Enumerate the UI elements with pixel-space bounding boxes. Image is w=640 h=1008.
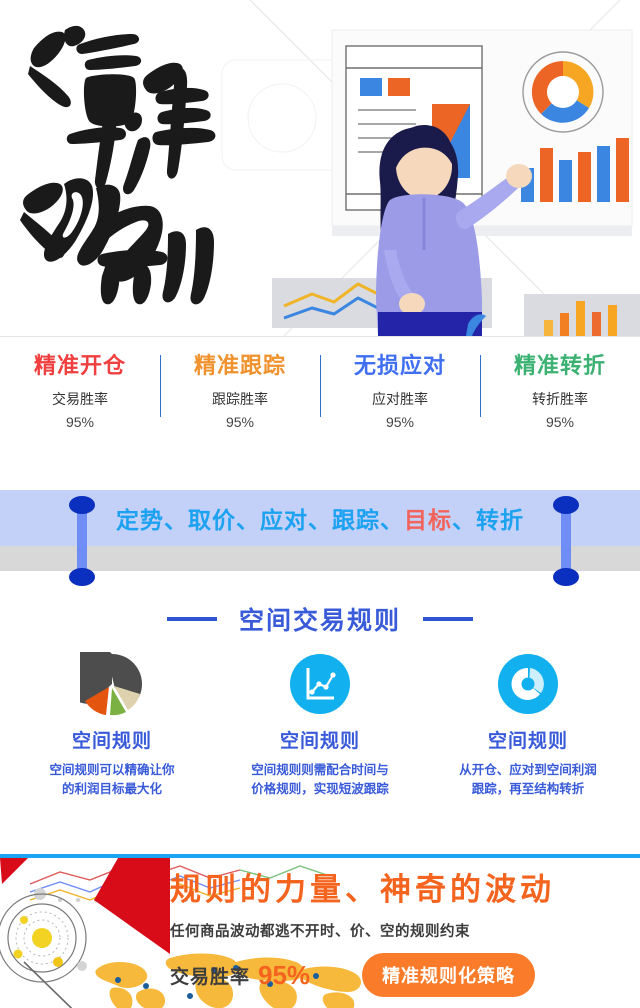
card-desc: 空间规则可以精确让你 的利润目标最大化 [14, 761, 210, 799]
dash-left-icon [167, 617, 217, 621]
bottom-title: 规则的力量、神奇的波动 [170, 868, 640, 912]
stat-title: 精准开仓 [4, 351, 156, 381]
calligraphy-strokes-icon [10, 8, 240, 308]
section-title-text: 空间交易规则 [239, 601, 401, 637]
section-title: 空间交易规则 [0, 594, 640, 644]
card-desc-line-2: 价格规则，实现短波跟踪 [222, 780, 418, 799]
dash-right-icon [423, 617, 473, 621]
keywords-banner: 定势、取价、应对、跟踪、目标、转折 [0, 476, 640, 586]
banner-gray-band [0, 546, 640, 571]
feature-cards: 空间规则 空间规则可以精确让你 的利润目标最大化 [0, 644, 640, 799]
stat-subtitle: 交易胜率 [4, 390, 156, 408]
card-desc-line-1: 空间规则则需配合时间与 [222, 761, 418, 780]
stat-value: 95% [484, 413, 636, 431]
card-desc: 从开仓、应对到空间利润 跟踪，再至结构转折 [430, 761, 626, 799]
stat-title: 无损应对 [324, 351, 476, 381]
card-desc-line-1: 从开仓、应对到空间利润 [430, 761, 626, 780]
stat-title: 精准转折 [484, 351, 636, 381]
bottom-subtitle: 任何商品波动都逃不开时、价、空的规则约束 [170, 920, 640, 941]
card-desc-line-1: 空间规则可以精确让你 [14, 761, 210, 780]
feature-card-3[interactable]: 空间规则 从开仓、应对到空间利润 跟踪，再至结构转折 [424, 652, 632, 799]
feature-card-2[interactable]: 空间规则 空间规则则需配合时间与 价格规则，实现短波跟踪 [216, 652, 424, 799]
stat-subtitle: 转折胜率 [484, 390, 636, 408]
stat-column-2: 精准跟踪 跟踪胜率 95% [160, 351, 320, 431]
stat-title: 精准跟踪 [164, 351, 316, 381]
feature-card-1[interactable]: 空间规则 空间规则可以精确让你 的利润目标最大化 [8, 652, 216, 799]
bottom-rate-value: 95% [258, 960, 310, 991]
stats-row: 精准开仓 交易胜率 95% 精准跟踪 跟踪胜率 95% 无损应对 应对胜率 95… [0, 336, 640, 476]
card-title: 空间规则 [222, 726, 418, 753]
pin-left-icon [68, 495, 96, 587]
banner-text: 定势、取价、应对、跟踪、目标、转折 [0, 490, 640, 546]
bottom-footer: 交易胜率 95% 精准规则化策略 [170, 953, 640, 997]
infographic-page: 精准开仓 交易胜率 95% 精准跟踪 跟踪胜率 95% 无损应对 应对胜率 95… [0, 0, 640, 1008]
card-title: 空间规则 [14, 726, 210, 753]
banner-segment-3: 、转折 [452, 501, 524, 535]
stat-column-4: 精准转折 转折胜率 95% [480, 351, 640, 431]
stat-value: 95% [4, 413, 156, 431]
stat-value: 95% [164, 413, 316, 431]
stat-value: 95% [324, 413, 476, 431]
cta-button[interactable]: 精准规则化策略 [362, 953, 535, 997]
card-title: 空间规则 [430, 726, 626, 753]
pie-chart-icon [80, 652, 144, 716]
bottom-cta-section: 规则的力量、神奇的波动 任何商品波动都逃不开时、价、空的规则约束 交易胜率 95… [0, 854, 640, 1008]
stat-column-1: 精准开仓 交易胜率 95% [0, 351, 160, 431]
bottom-rate-label: 交易胜率 [170, 962, 250, 989]
stat-subtitle: 跟踪胜率 [164, 390, 316, 408]
hero-illustration [272, 0, 640, 336]
banner-segment-1: 定势、取价、应对、跟踪、 [116, 501, 404, 535]
card-desc: 空间规则则需配合时间与 价格规则，实现短波跟踪 [222, 761, 418, 799]
scatter-trend-chart-icon [288, 652, 352, 716]
stat-subtitle: 应对胜率 [324, 390, 476, 408]
bottom-content: 规则的力量、神奇的波动 任何商品波动都逃不开时、价、空的规则约束 交易胜率 95… [170, 868, 640, 997]
donut-chart-icon [496, 652, 560, 716]
calligraphy-title [10, 8, 240, 308]
card-desc-line-2: 的利润目标最大化 [14, 780, 210, 799]
pin-right-icon [552, 495, 580, 587]
card-desc-line-2: 跟踪，再至结构转折 [430, 780, 626, 799]
stat-column-3: 无损应对 应对胜率 95% [320, 351, 480, 431]
banner-segment-highlight: 目标 [404, 501, 452, 535]
hero-section [0, 0, 640, 336]
